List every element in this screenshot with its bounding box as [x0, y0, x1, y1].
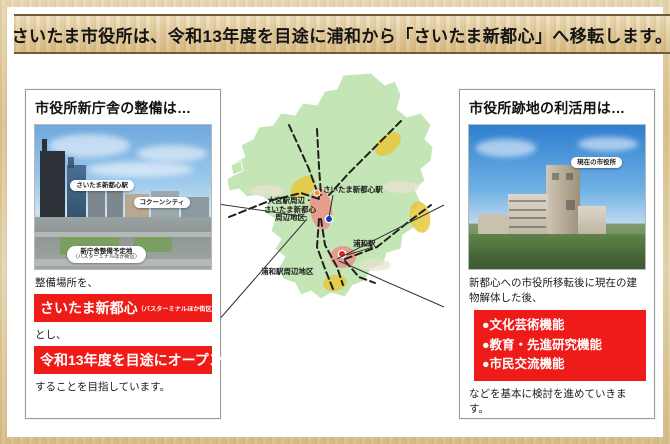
new-city-hall-panel: 市役所新庁舎の整備は… さいたま新 [25, 89, 221, 419]
callout-label: 現在の市役所 [577, 159, 616, 166]
left-closing-text: することを目指しています。 [35, 380, 211, 395]
red-box-location-label: さいたま新都心 [40, 300, 138, 316]
callout-note: （バスターミナルほか街区） [73, 255, 140, 261]
function-item-exchange: ●市民交流機能 [482, 355, 638, 374]
poster-root: さいたま市役所は、令和13年度を目途に浦和から「さいたま新都心」へ移転します。 [0, 0, 670, 444]
function-item-culture: ●文化芸術機能 [482, 316, 638, 335]
cloud-shape [476, 139, 536, 156]
map-label-omiya-line3: 周辺地区 [275, 213, 305, 222]
city-hall-wing-shape [478, 214, 508, 234]
left-lead-text: 整備場所を、 [35, 276, 211, 291]
antenna-shape [68, 157, 73, 169]
road-shape [35, 232, 211, 238]
map-label-urawa-station: 浦和駅 [353, 240, 376, 249]
window-shape [566, 173, 573, 180]
window-band-shape [509, 209, 546, 211]
tree-line-shape [469, 234, 645, 269]
former-site-panel: 市役所跡地の利活用は… 現在の市役所 新 [459, 89, 655, 419]
red-box-open-date: 令和13年度を目途にオープン [34, 346, 212, 374]
right-closing-text: などを基本に検討を進めていきます。 [469, 387, 645, 417]
building-shape [67, 165, 86, 223]
left-connector-text: とし、 [35, 328, 211, 343]
right-panel-title: 市役所跡地の利活用は… [469, 98, 646, 118]
building-shape [107, 188, 123, 220]
window-band-shape [509, 200, 546, 202]
saitama-shintoshin-skyline-photo: さいたま新都心駅 コクーンシティ 新庁舎整備予定地 （バスターミナルほか街区） [34, 124, 212, 270]
red-box-function-list: ●文化芸術機能 ●教育・先進研究機能 ●市民交流機能 [474, 310, 646, 380]
map-label-shintoshin-station: さいたま新都心駅 [323, 186, 383, 195]
current-city-hall-photo: 現在の市役所 [468, 124, 646, 270]
map-label-omiya-shintoshin: 大宮駅周辺・ さいたま新都心 周辺地区 [255, 197, 325, 223]
left-panel-title: 市役所新庁舎の整備は… [35, 98, 212, 118]
window-shape [566, 200, 575, 210]
window-band-shape [509, 226, 546, 228]
headline-banner: さいたま市役所は、令和13年度を目途に浦和から「さいたま新都心」へ移転します。 [14, 14, 670, 54]
cloud-shape [137, 145, 207, 162]
map-label-urawa-district: 浦和駅周辺地区 [261, 268, 314, 277]
red-box-location-note: （バスターミナルほか街区） [138, 306, 218, 313]
red-box-location: さいたま新都心（バスターミナルほか街区） [34, 294, 212, 322]
callout-shintoshin-station: さいたま新都心駅 [70, 180, 134, 191]
antenna-shape [42, 139, 47, 156]
function-item-education: ●教育・先進研究機能 [482, 336, 638, 355]
map-blob-ne [383, 181, 419, 193]
map-blob-s [359, 259, 391, 271]
poster-inner: さいたま市役所は、令和13年度を目途に浦和から「さいたま新都心」へ移転します。 [7, 7, 663, 437]
map-dot-urawa [338, 250, 345, 257]
window-shape [552, 173, 559, 180]
cloud-shape [578, 137, 638, 151]
cloud-shape [88, 162, 194, 176]
callout-label: コクーンシティ [140, 199, 185, 206]
callout-new-hall-site: 新庁舎整備予定地 （バスターミナルほか街区） [67, 246, 146, 263]
headline-text: さいたま市役所は、令和13年度を目途に浦和から「さいたま新都心」へ移転します。 [12, 22, 670, 47]
building-shape [40, 151, 65, 226]
window-band-shape [509, 217, 546, 219]
callout-label: さいたま新都心駅 [76, 182, 128, 189]
saitama-city-map: 大宮駅周辺・ さいたま新都心 周辺地区 さいたま新都心駅 浦和駅 浦和駅周辺地区 [225, 69, 453, 309]
map-dot-omiya [314, 190, 320, 196]
callout-cocoon-city: コクーンシティ [134, 197, 191, 208]
callout-current-city-hall: 現在の市役所 [571, 157, 622, 168]
city-hall-wing-shape [578, 206, 606, 238]
right-lead-text: 新都心への市役所移転後に現在の建物解体した後、 [469, 276, 645, 306]
